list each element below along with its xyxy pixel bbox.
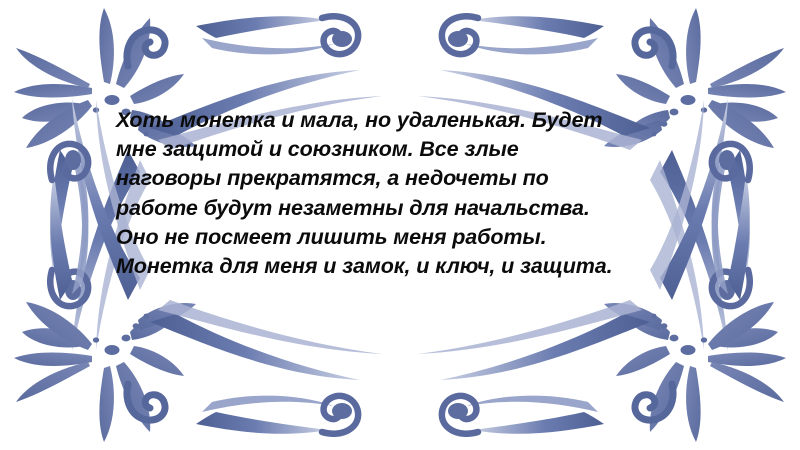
edge-tendril-left-upper [50, 150, 88, 306]
edge-tendril-top-right [442, 16, 604, 54]
quote-card: Хоть монетка и мала, но удаленькая. Буде… [0, 0, 800, 450]
verse-line: Хоть монетка и мала, но удаленькая. Буде… [116, 106, 716, 135]
edge-tendril-bottom-right [442, 396, 604, 434]
edge-tendril-left-lower [50, 144, 88, 300]
edge-tendril-right-lower [712, 144, 750, 300]
verse-line: наговоры прекратятся, а недочеты по [116, 164, 716, 193]
verse-line: работе будут незаметны для начальства. [116, 194, 716, 223]
edge-tendril-top-left [196, 16, 358, 54]
verse-line: Оно не посмеет лишить меня работы. [116, 223, 716, 252]
verse-line: мне защитой и союзником. Все злые [116, 135, 716, 164]
verse-text-block: Хоть монетка и мала, но удаленькая. Буде… [116, 106, 716, 281]
verse-line: Монетка для меня и замок, и ключ, и защи… [116, 252, 716, 281]
edge-tendril-bottom-left [196, 396, 358, 434]
edge-tendril-right-upper [712, 150, 750, 306]
